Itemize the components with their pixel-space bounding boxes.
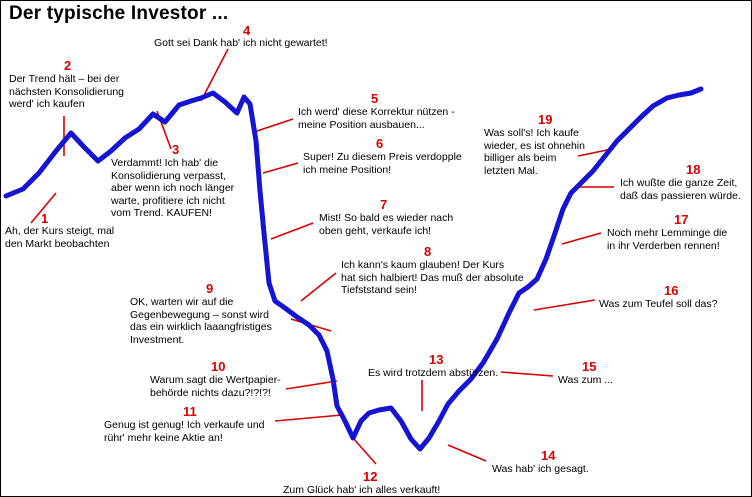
- annotation-number-8: 8: [424, 244, 431, 259]
- annotation-number-19: 19: [538, 112, 552, 127]
- annotation-text-1: Ah, der Kurs steigt, mal den Markt beoba…: [5, 225, 114, 250]
- annotation-text-4: Gott sei Dank hab' ich nicht gewartet!: [154, 37, 328, 50]
- annotation-number-15: 15: [582, 359, 596, 374]
- annotation-text-19: Was soll's! Ich kaufe wieder, es ist ohn…: [484, 127, 585, 177]
- annotation-number-4: 4: [243, 23, 250, 38]
- annotation-number-12: 12: [363, 469, 377, 484]
- annotation-text-12: Zum Glück hab' ich alles verkauft!: [283, 484, 440, 497]
- leader-line-11: [275, 415, 342, 421]
- annotation-number-2: 2: [64, 58, 71, 73]
- leader-line-15: [501, 372, 553, 376]
- annotation-number-14: 14: [541, 448, 555, 463]
- annotation-number-13: 13: [429, 352, 443, 367]
- leader-line-8: [301, 273, 336, 301]
- annotation-number-18: 18: [686, 162, 700, 177]
- annotation-number-6: 6: [376, 136, 383, 151]
- annotation-text-15: Was zum ...: [558, 374, 613, 387]
- annotation-text-2: Der Trend hält – bei der nächsten Konsol…: [9, 73, 124, 111]
- annotation-number-3: 3: [172, 142, 179, 157]
- annotation-text-7: Mist! So bald es wieder nach oben geht, …: [319, 212, 453, 237]
- annotation-text-18: Ich wußte die ganze Zeit, daß das passie…: [620, 177, 741, 202]
- annotation-text-8: Ich kann's kaum glauben! Der Kurs hat si…: [341, 259, 524, 297]
- annotation-number-10: 10: [211, 359, 225, 374]
- leader-line-5: [257, 119, 293, 131]
- annotation-text-5: Ich werd' diese Korrektur nützen - meine…: [298, 106, 455, 131]
- annotation-number-16: 16: [664, 283, 678, 298]
- annotation-text-3: Verdammt! Ich hab' die Konsolidierung ve…: [111, 157, 234, 220]
- leader-line-12: [353, 438, 376, 464]
- annotation-text-11: Genug ist genug! Ich verkaufe und rühr' …: [104, 419, 265, 444]
- annotation-text-6: Super! Zu diesem Preis verdopple ich mei…: [303, 151, 462, 176]
- leader-line-17: [562, 233, 601, 244]
- leader-line-10: [286, 381, 337, 389]
- annotation-text-14: Was hab' ich gesagt.: [492, 463, 589, 476]
- annotation-number-17: 17: [674, 212, 688, 227]
- annotation-number-7: 7: [380, 197, 387, 212]
- annotation-text-9: OK, warten wir auf die Gegenbewegung – s…: [130, 296, 272, 346]
- annotation-number-9: 9: [206, 281, 213, 296]
- annotation-number-5: 5: [371, 91, 378, 106]
- annotation-text-17: Noch mehr Lemminge die in ihr Verderben …: [607, 227, 727, 252]
- annotation-text-10: Warum sagt die Wertpapier- behörde nicht…: [150, 374, 281, 399]
- investor-chart-figure: Der typische Investor ... 1Ah, der Kurs …: [0, 0, 752, 497]
- leader-line-16: [534, 300, 595, 310]
- annotation-number-11: 11: [183, 404, 197, 419]
- annotation-number-1: 1: [41, 211, 48, 226]
- leader-line-14: [448, 445, 486, 461]
- leader-line-7: [271, 223, 313, 239]
- annotation-text-13: Es wird trotzdem abstürzen.: [368, 367, 498, 380]
- leader-line-6: [263, 163, 298, 173]
- annotation-text-16: Was zum Teufel soll das?: [599, 298, 717, 311]
